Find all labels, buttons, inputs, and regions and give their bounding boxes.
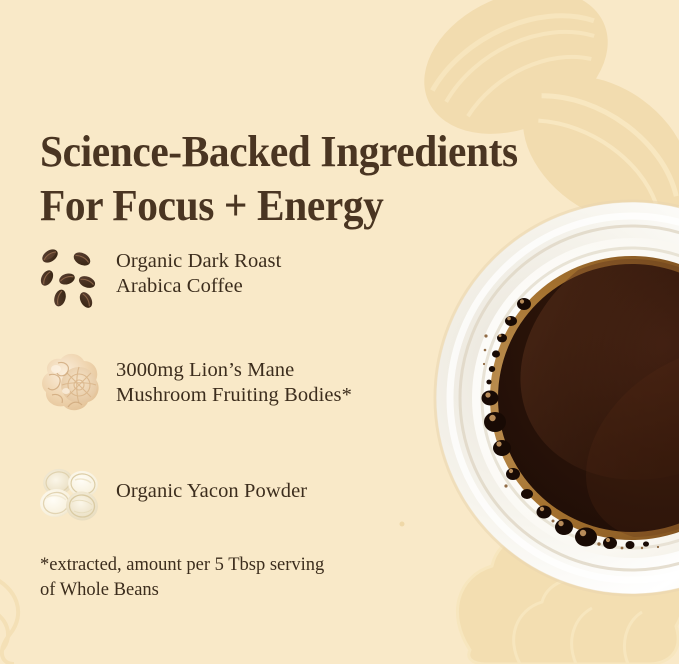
cup-drop-shadow: [435, 201, 679, 595]
coffee-beans-icon: [34, 238, 106, 310]
coffee-crema-ring: [490, 256, 679, 540]
ingredient-label: 3000mg Lion’s Mane Mushroom Fruiting Bod…: [116, 358, 352, 409]
coffee-surface: [498, 264, 679, 532]
ingredient-label: Organic Yacon Powder: [116, 479, 307, 505]
cup-rim-highlight: [450, 216, 679, 580]
coffee-bubbles: [482, 298, 660, 549]
coffee-surface-sheen-soft: [550, 307, 679, 580]
ingredient-label: Organic Dark Roast Arabica Coffee: [116, 249, 281, 300]
ingredients-infographic: Science-Backed Ingredients For Focus + E…: [0, 0, 679, 664]
coffee-surface-sheen: [476, 186, 679, 529]
yacon-slice-front-right: [65, 490, 100, 522]
watermark-wisp-bottom-left: [0, 576, 18, 664]
cup-outer-rim: [436, 202, 679, 594]
ingredient-list: Organic Dark Roast Arabica Coffee: [34, 236, 454, 563]
cup-inner-wall: [472, 238, 679, 558]
watermark-lions-mane-bottom-right: [457, 530, 679, 664]
cup-rim-shadow: [460, 226, 679, 570]
ingredient-row-lions-mane: 3000mg Lion’s Mane Mushroom Fruiting Bod…: [34, 345, 454, 421]
ingredient-row-coffee: Organic Dark Roast Arabica Coffee: [34, 236, 454, 312]
ingredient-row-yacon: Organic Yacon Powder: [34, 454, 454, 530]
footnote: *extracted, amount per 5 Tbsp serving of…: [40, 553, 440, 603]
yacon-root-slices-icon: [34, 456, 106, 528]
cup-inner-rim-line: [482, 248, 679, 548]
page-title: Science-Backed Ingredients For Focus + E…: [40, 125, 604, 233]
lions-mane-mushroom-icon: [34, 347, 106, 419]
